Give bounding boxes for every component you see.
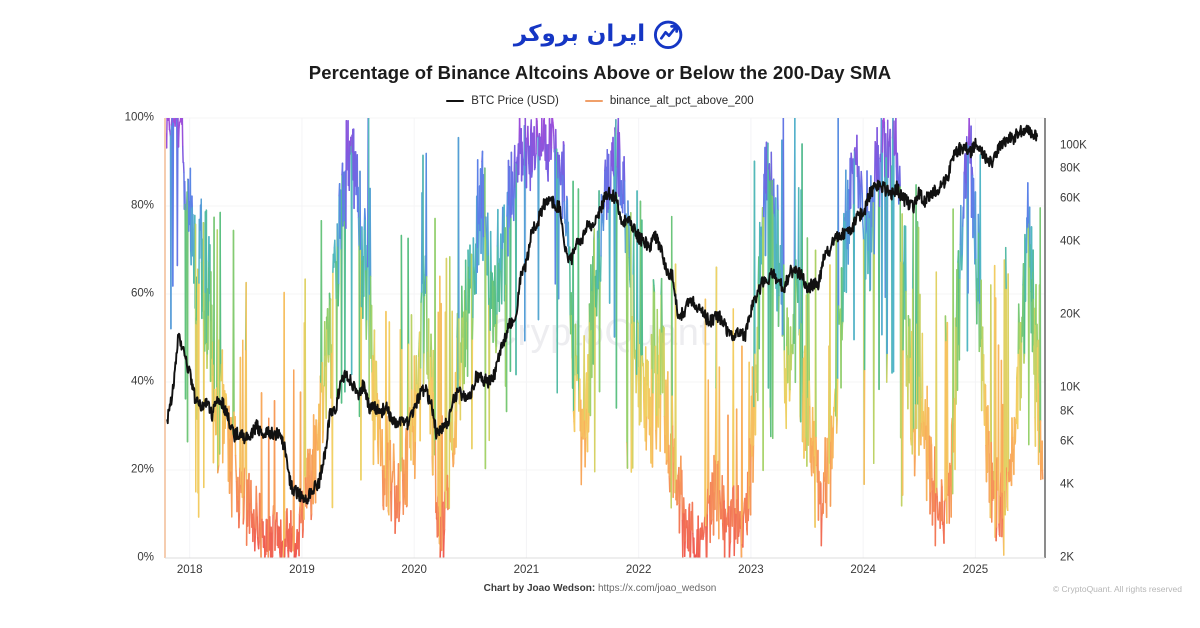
credit-prefix: Chart by Joao Wedson:: [484, 583, 596, 594]
y-tick-left-5: 100%: [96, 112, 154, 124]
x-tick-1: 2019: [289, 565, 315, 577]
y-tick-right-7: 60K: [1060, 194, 1080, 206]
y-tick-right-8: 80K: [1060, 163, 1080, 175]
chart-canvas: [0, 0, 1200, 628]
copyright-notice: © CryptoQuant. All rights reserved: [1053, 584, 1182, 594]
y-tick-right-0: 2K: [1060, 552, 1074, 564]
x-tick-5: 2023: [738, 565, 764, 577]
y-tick-right-2: 6K: [1060, 436, 1074, 448]
credit-link[interactable]: https://x.com/joao_wedson: [598, 583, 716, 594]
y-tick-right-3: 8K: [1060, 406, 1074, 418]
x-tick-3: 2021: [514, 565, 540, 577]
x-tick-4: 2022: [626, 565, 652, 577]
y-tick-left-1: 20%: [96, 464, 154, 476]
y-tick-right-6: 40K: [1060, 236, 1080, 248]
y-tick-left-0: 0%: [96, 552, 154, 564]
plot-area: 0%20%40%60%80%100%2K4K6K8K10K20K40K60K80…: [0, 0, 1200, 628]
x-tick-7: 2025: [963, 565, 989, 577]
y-tick-left-2: 40%: [96, 376, 154, 388]
chart-page: ایران بروکر Percentage of Binance Altcoi…: [0, 0, 1200, 628]
x-tick-0: 2018: [177, 565, 203, 577]
y-tick-left-3: 60%: [96, 288, 154, 300]
x-tick-6: 2024: [850, 565, 876, 577]
y-tick-right-9: 100K: [1060, 140, 1087, 152]
y-tick-right-1: 4K: [1060, 479, 1074, 491]
y-tick-left-4: 80%: [96, 200, 154, 212]
chart-credit: Chart by Joao Wedson: https://x.com/joao…: [0, 583, 1200, 594]
y-tick-right-5: 20K: [1060, 310, 1080, 322]
y-tick-right-4: 10K: [1060, 383, 1080, 395]
x-tick-2: 2020: [401, 565, 427, 577]
